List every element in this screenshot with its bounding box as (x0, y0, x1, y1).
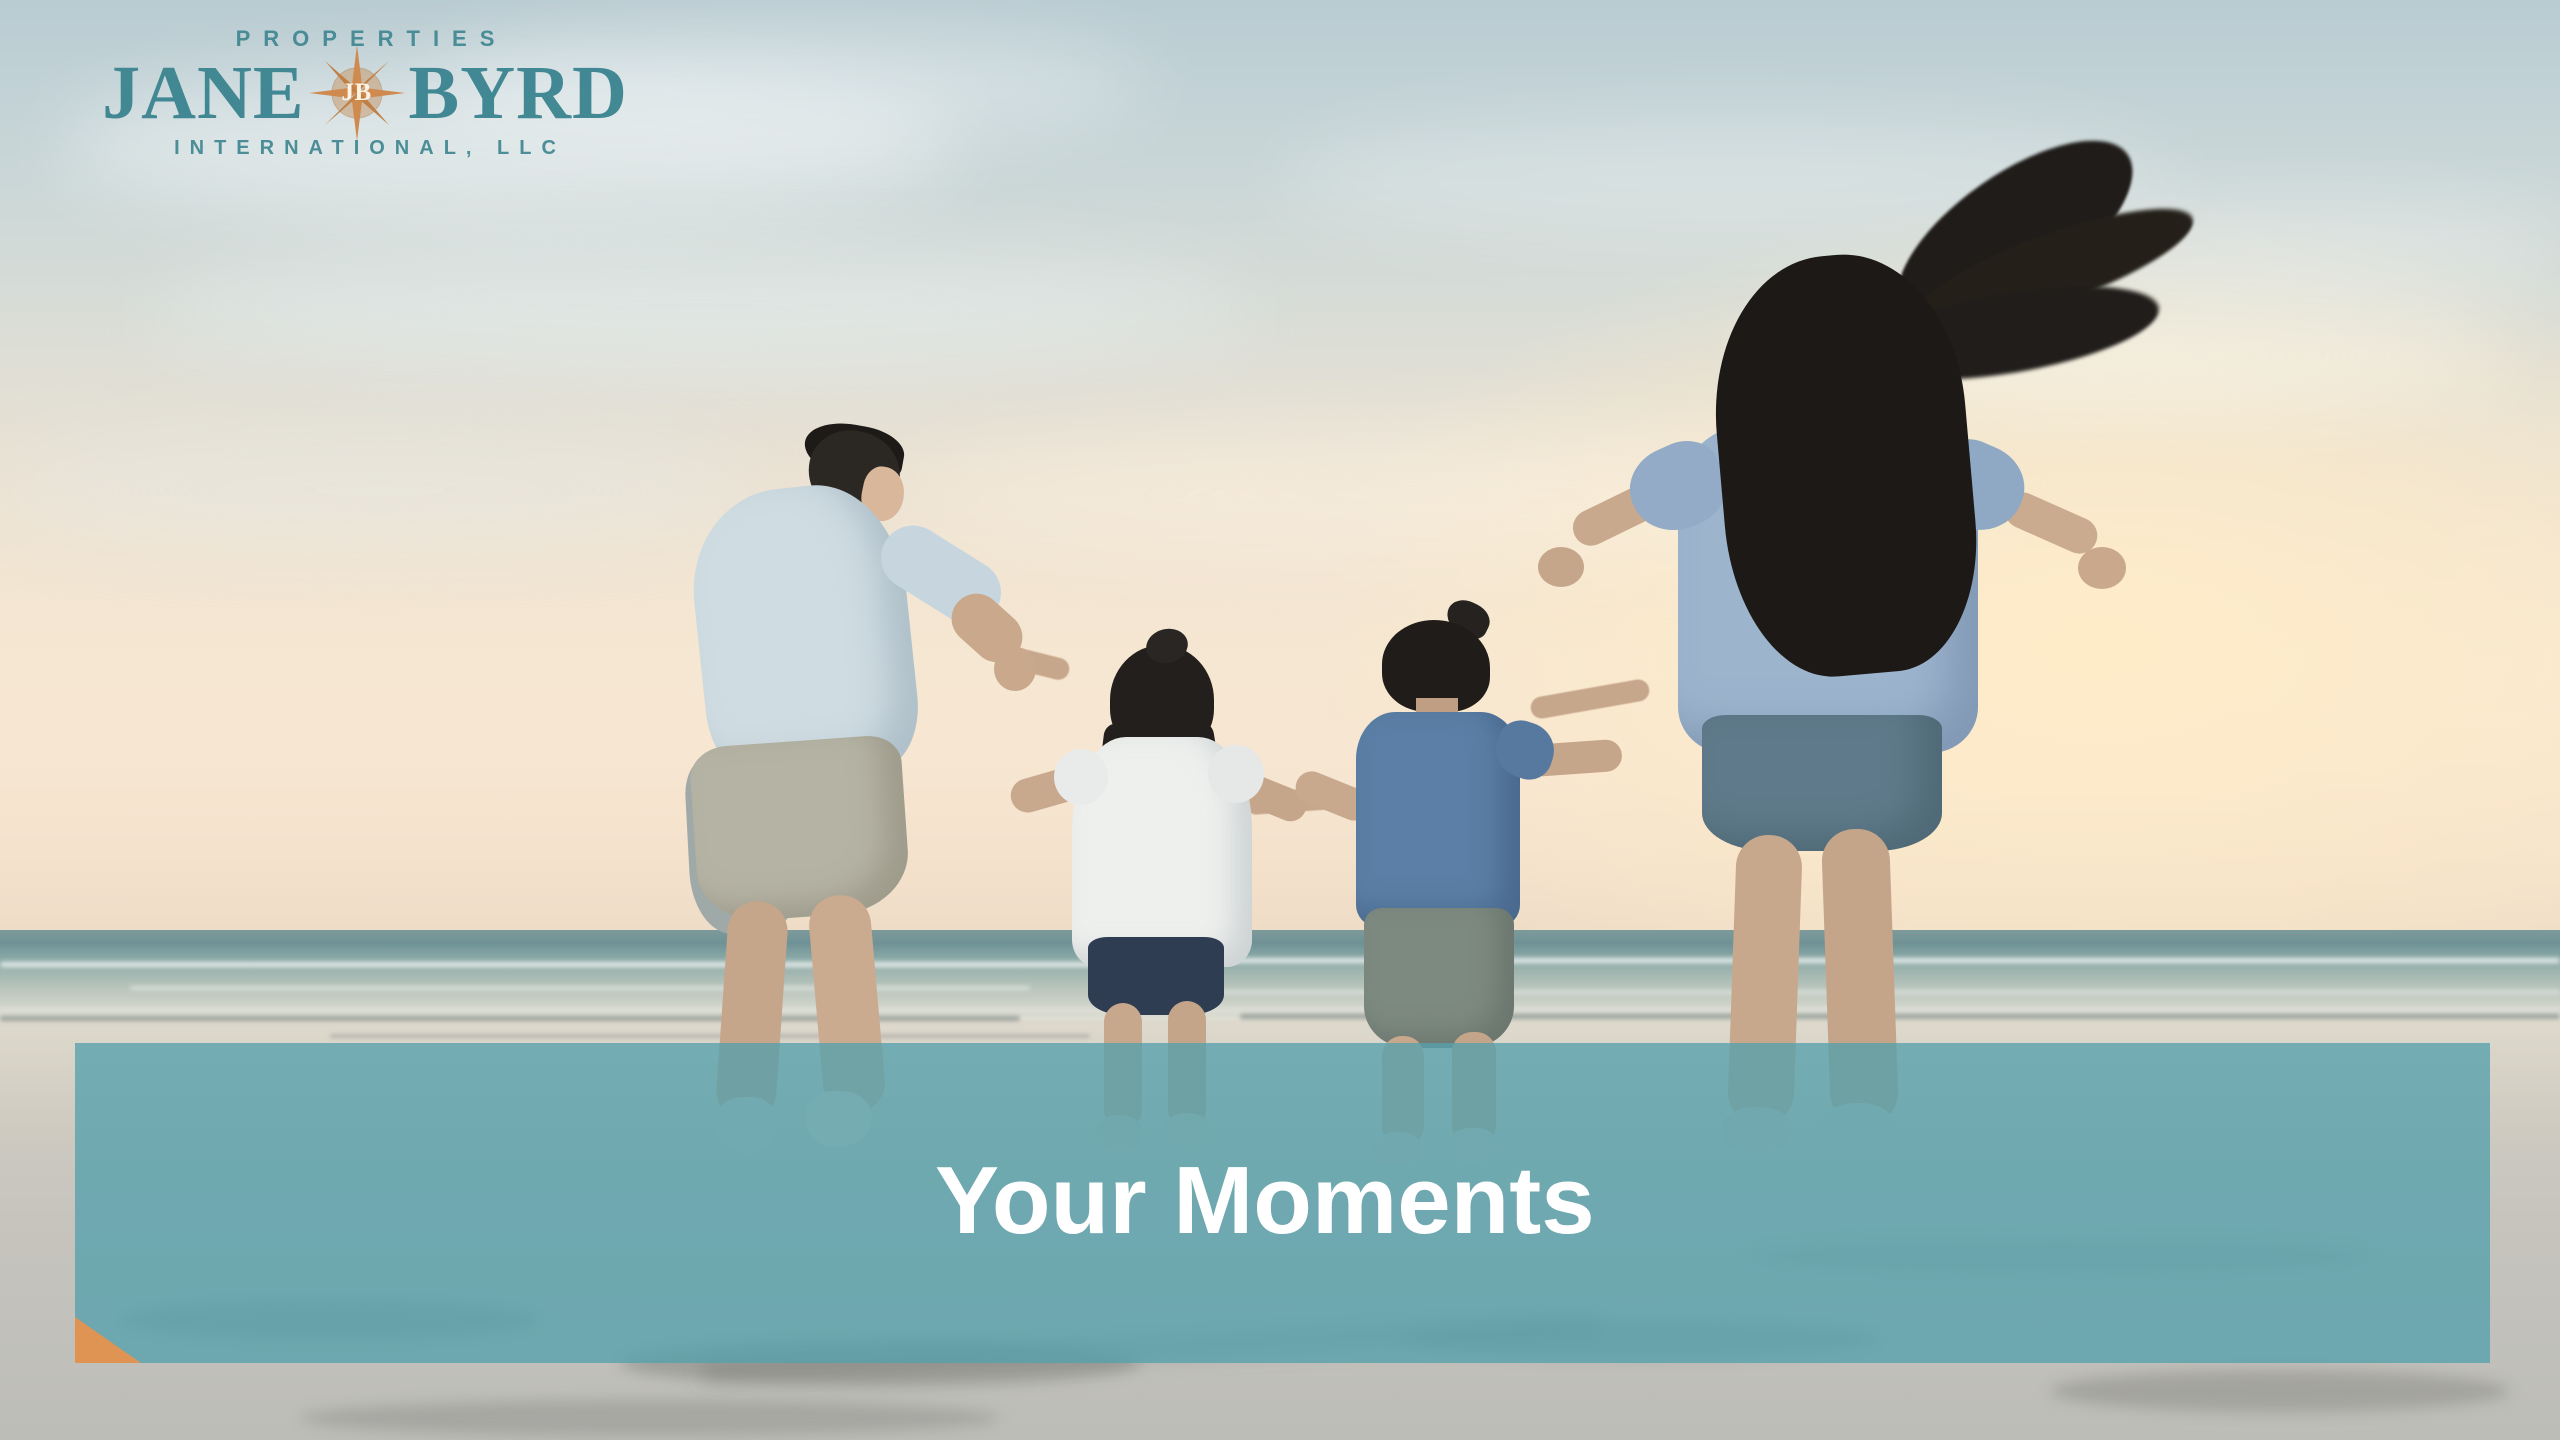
logo-name-left: JANE (102, 55, 304, 131)
logo-wordmark: JANE (55, 54, 675, 132)
logo-monogram: JB (309, 45, 405, 141)
sand-texture (2050, 1370, 2510, 1412)
compass-star-icon: JB (309, 45, 405, 141)
cloud (0, 430, 760, 550)
logo-name-right: BYRD (409, 55, 628, 131)
title-banner: Your Moments (75, 1043, 2490, 1363)
wave (0, 1008, 2560, 1011)
page-title: Your Moments (935, 1153, 1595, 1249)
brand-logo[interactable]: PROPERTIES JANE (55, 28, 675, 168)
sand-texture (300, 1400, 1000, 1436)
cloud (150, 250, 1250, 370)
figure-mother (1610, 255, 2040, 1155)
slide-canvas: PROPERTIES JANE (0, 0, 2560, 1440)
triangle-accent-icon (75, 1317, 141, 1363)
logo-bottom-line: INTERNATIONAL, LLC (55, 138, 675, 158)
